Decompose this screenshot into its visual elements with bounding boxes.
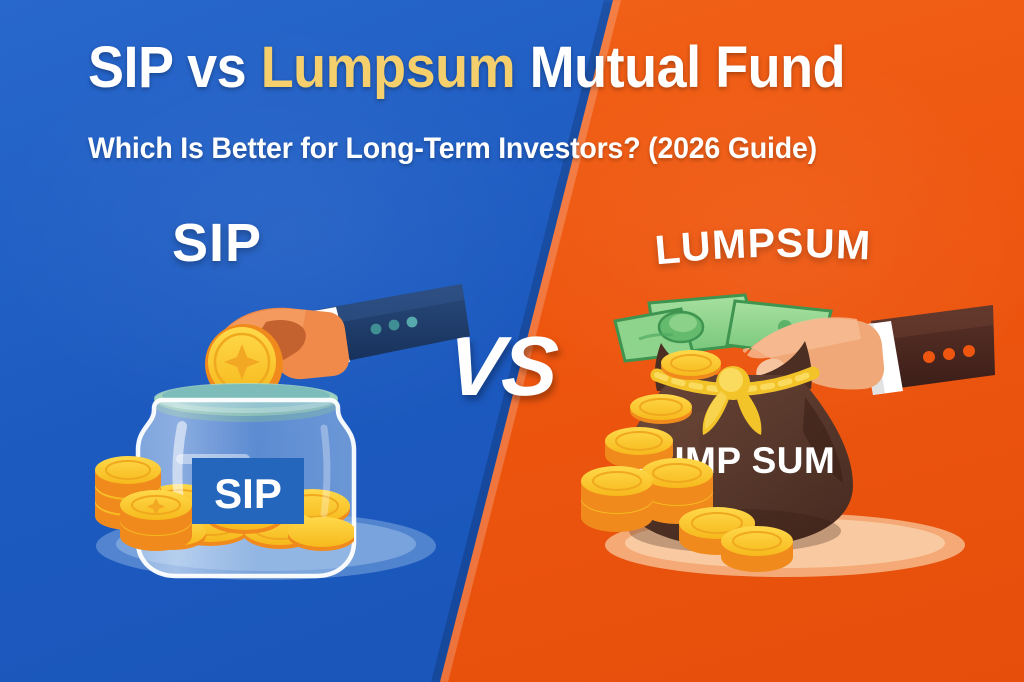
title-part-one: SIP vs: [88, 35, 261, 100]
money-bag-icon: LUMP SUM: [595, 295, 995, 595]
coin-stack-front: [120, 490, 192, 551]
cuff-button: [389, 320, 400, 331]
cuff-button: [407, 317, 418, 328]
page-title: SIP vs Lumpsum Mutual Fund: [88, 38, 845, 99]
title-part-two: Mutual Fund: [515, 35, 845, 100]
cuff-button: [371, 324, 382, 335]
coin-stack-front-left: [581, 466, 653, 532]
page-subtitle: Which Is Better for Long-Term Investors?…: [88, 132, 817, 166]
cuff-button: [943, 348, 955, 360]
jar-label-text: SIP: [214, 470, 282, 517]
coin-stack-back: [661, 350, 721, 380]
coin-single-b: [721, 526, 793, 572]
cuff-button: [963, 345, 975, 357]
cuff-button: [923, 351, 935, 363]
lumpsum-heading: LUMPSUM: [654, 219, 872, 271]
sip-heading: SIP: [172, 212, 262, 274]
infographic-banner: SIP vs Lumpsum Mutual Fund Which Is Bett…: [0, 0, 1024, 682]
title-highlight: Lumpsum: [261, 35, 515, 100]
coin-jar-icon: SIP: [70, 278, 470, 588]
